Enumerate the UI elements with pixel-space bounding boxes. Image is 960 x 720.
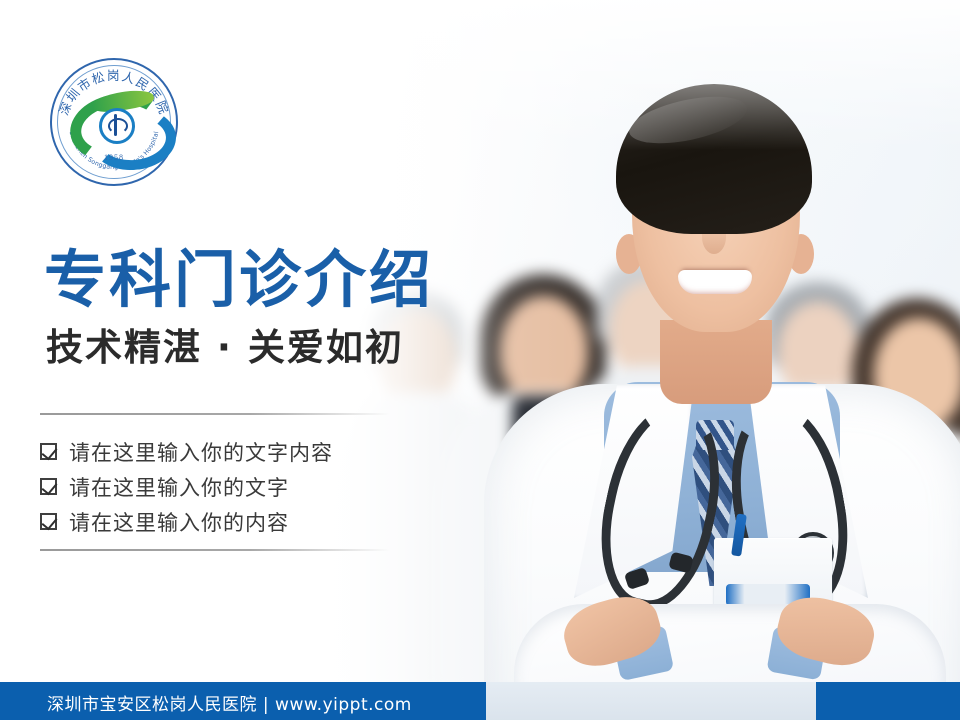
divider-bottom	[40, 549, 390, 551]
foreground-doctor	[520, 84, 940, 720]
logo-caduceus-icon	[99, 108, 135, 144]
list-item: 请在这里输入你的文字内容	[40, 434, 440, 469]
slide-title: 专科门诊介绍	[44, 249, 434, 311]
checkbox-checked-icon	[40, 478, 57, 495]
list-item: 请在这里输入你的文字	[40, 469, 440, 504]
doctor-neck	[660, 320, 772, 404]
divider-top	[40, 413, 390, 415]
footer-label: 深圳市宝安区松岗人民医院 | www.yippt.com	[47, 690, 412, 715]
logo-founding-year: 1958	[50, 153, 178, 162]
presentation-slide: 深圳市松岗人民医院 Shenzhen Songgang People's Hos…	[0, 0, 960, 720]
checkbox-checked-icon	[40, 443, 57, 460]
doctor-hair	[616, 84, 812, 234]
list-item: 请在这里输入你的内容	[40, 504, 440, 539]
logo-emblem-mark	[70, 92, 158, 150]
bullet-list: 请在这里输入你的文字内容 请在这里输入你的文字 请在这里输入你的内容	[40, 434, 440, 539]
list-item-label: 请在这里输入你的文字内容	[69, 437, 333, 467]
slide-subtitle: 技术精湛 · 关爱如初	[46, 329, 404, 366]
checkbox-checked-icon	[40, 513, 57, 530]
doctor-smile	[678, 270, 752, 294]
doctor-coat-over-footer	[486, 682, 816, 720]
list-item-label: 请在这里输入你的内容	[69, 507, 289, 537]
list-item-label: 请在这里输入你的文字	[69, 472, 289, 502]
hospital-logo: 深圳市松岗人民医院 Shenzhen Songgang People's Hos…	[50, 58, 178, 186]
